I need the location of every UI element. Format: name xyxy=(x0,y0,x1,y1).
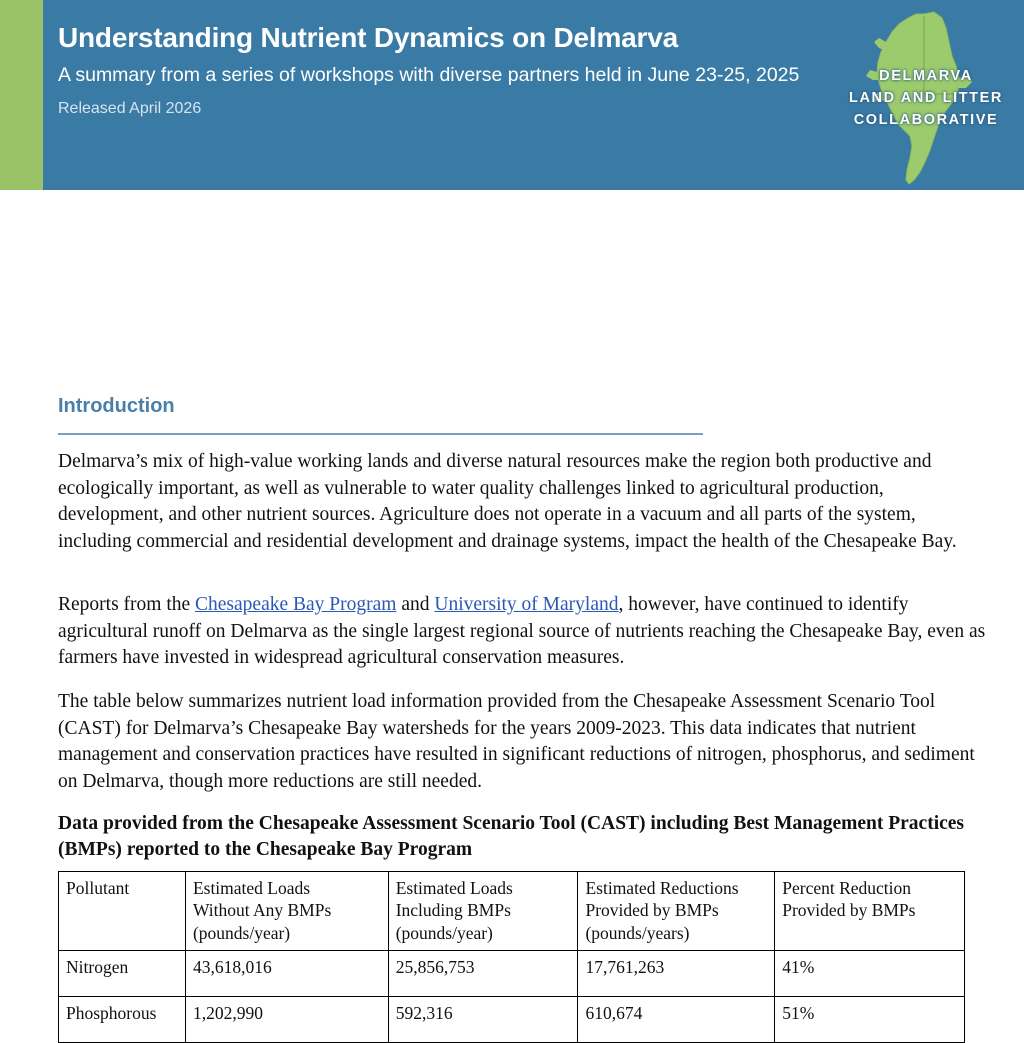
column-header-pollutant: Pollutant xyxy=(59,872,186,951)
release-date: Released April 2026 xyxy=(58,99,848,120)
page-subtitle: A summary from a series of workshops wit… xyxy=(58,62,848,88)
table-row: Nitrogen 43,618,016 25,856,753 17,761,26… xyxy=(59,951,965,997)
column-header-percent-reduction: Percent Reduction Provided by BMPs xyxy=(775,872,965,951)
column-header-loads-without-bmps: Estimated Loads Without Any BMPs (pounds… xyxy=(185,872,388,951)
column-header-loads-including-bmps: Estimated Loads Including BMPs (pounds/y… xyxy=(388,872,578,951)
header-text-block: Understanding Nutrient Dynamics on Delma… xyxy=(58,22,848,119)
intro-paragraph-2: Reports from the Chesapeake Bay Program … xyxy=(58,592,988,672)
cell-pollutant: Phosphorous xyxy=(59,997,186,1043)
logo-wordmark: DELMARVA LAND AND LITTER COLLABORATIVE xyxy=(846,66,1006,131)
logo-line-collaborative: COLLABORATIVE xyxy=(846,110,1006,132)
table-body: Nitrogen 43,618,016 25,856,753 17,761,26… xyxy=(59,951,965,1043)
section-divider xyxy=(58,433,703,435)
cell-pollutant: Nitrogen xyxy=(59,951,186,997)
logo-line-land-and-litter: LAND AND LITTER xyxy=(846,88,1006,110)
link-university-of-maryland[interactable]: University of Maryland xyxy=(434,594,618,615)
cell-percent-reduction: 51% xyxy=(775,997,965,1043)
table-head: Pollutant Estimated Loads Without Any BM… xyxy=(59,872,965,951)
cell-loads-without-bmps: 1,202,990 xyxy=(185,997,388,1043)
delmarva-land-and-litter-collaborative-logo: DELMARVA LAND AND LITTER COLLABORATIVE xyxy=(846,8,1006,190)
cell-loads-including-bmps: 25,856,753 xyxy=(388,951,578,997)
nutrient-load-table: Pollutant Estimated Loads Without Any BM… xyxy=(58,871,965,1043)
link-chesapeake-bay-program[interactable]: Chesapeake Bay Program xyxy=(195,594,396,615)
cell-percent-reduction: 41% xyxy=(775,951,965,997)
document-header: Understanding Nutrient Dynamics on Delma… xyxy=(0,0,1024,190)
intro-paragraph-1: Delmarva’s mix of high-value working lan… xyxy=(58,449,988,555)
paragraph-2-text-before-link: Reports from the xyxy=(58,594,195,615)
section-heading-introduction: Introduction xyxy=(58,395,175,418)
column-header-estimated-reductions: Estimated Reductions Provided by BMPs (p… xyxy=(578,872,775,951)
intro-paragraph-3: The table below summarizes nutrient load… xyxy=(58,689,988,795)
table-row: Phosphorous 1,202,990 592,316 610,674 51… xyxy=(59,997,965,1043)
cell-loads-without-bmps: 43,618,016 xyxy=(185,951,388,997)
logo-line-delmarva: DELMARVA xyxy=(846,66,1006,88)
paragraph-2-text-between-links: and xyxy=(396,594,434,615)
table-header-row: Pollutant Estimated Loads Without Any BM… xyxy=(59,872,965,951)
table-caption: Data provided from the Chesapeake Assess… xyxy=(58,811,968,864)
cell-estimated-reductions: 17,761,263 xyxy=(578,951,775,997)
cell-estimated-reductions: 610,674 xyxy=(578,997,775,1043)
header-accent-bar xyxy=(0,0,43,190)
cell-loads-including-bmps: 592,316 xyxy=(388,997,578,1043)
page-title: Understanding Nutrient Dynamics on Delma… xyxy=(58,22,848,54)
